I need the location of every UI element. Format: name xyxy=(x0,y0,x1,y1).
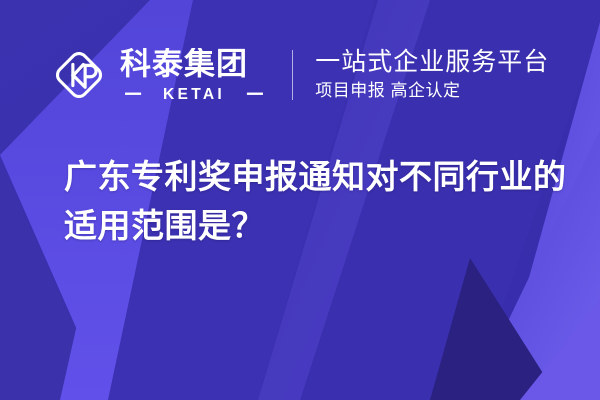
slogan-block: 一站式企业服务平台 项目申报 高企认定 xyxy=(315,47,549,103)
svg-text:KETAI: KETAI xyxy=(163,86,225,102)
header-divider xyxy=(292,50,294,100)
wordmark-rule-left xyxy=(125,93,141,95)
brand-wordmark: 科泰集团 KETAI xyxy=(120,48,268,102)
brand-name-en-row: KETAI xyxy=(120,85,268,102)
banner-header: 科泰集团 KETAI 一站式企业服务平台 项目申报 高企认定 xyxy=(0,38,600,112)
wordmark-rule-right xyxy=(247,93,263,95)
svg-text:科泰集团: 科泰集团 xyxy=(120,48,248,82)
slogan-sub: 项目申报 高企认定 xyxy=(315,79,549,103)
page-title-line-1: 广东专利奖申报通知对不同行业的 xyxy=(64,152,544,201)
page-title: 广东专利奖申报通知对不同行业的 适用范围是？ xyxy=(64,152,544,250)
brand-name-cn: 科泰集团 xyxy=(120,48,268,82)
promo-banner: 科泰集团 KETAI 一站式企业服务平台 项目申报 高企认定 广东专利奖申报通知… xyxy=(0,0,600,400)
page-title-line-2: 适用范围是？ xyxy=(64,201,544,250)
slogan-main: 一站式企业服务平台 xyxy=(315,47,549,78)
ketai-diamond-kp-monogram-icon xyxy=(51,47,107,103)
brand-logo[interactable]: 科泰集团 KETAI xyxy=(51,47,268,103)
